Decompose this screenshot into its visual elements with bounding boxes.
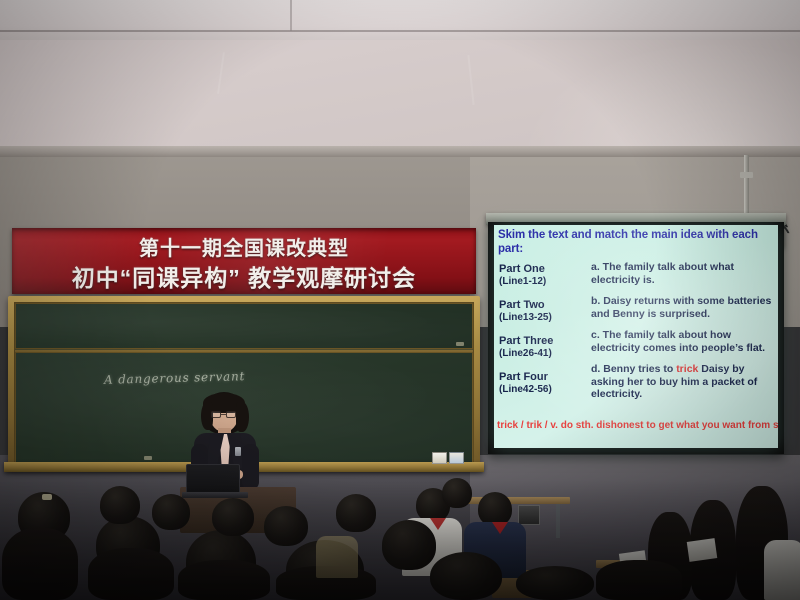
student-uniform [764, 540, 800, 600]
blackboard-knob [456, 342, 464, 346]
student-head [336, 494, 376, 532]
chalk-box [432, 452, 447, 464]
blackboard-knob [144, 456, 152, 460]
desk-leg [556, 504, 560, 538]
slide-option-c: c. The family talk about how electricity… [591, 329, 778, 354]
banner-line-1: 第十一期全国课改典型 [12, 232, 476, 261]
option-b-text: b. Daisy returns with some batteries and… [591, 295, 771, 320]
desk-monitor [518, 505, 540, 525]
projection-screen: Skim the text and match the main idea wi… [488, 222, 784, 454]
hair-clip [42, 494, 52, 500]
student-head [212, 498, 254, 536]
slide-part-item: Part One (Line1-12) [499, 263, 589, 288]
student-head [382, 520, 436, 570]
teacher-arm-right [242, 444, 259, 490]
slide-option-d: d. Benny tries to trick Daisy by asking … [591, 363, 778, 401]
student-head [478, 492, 512, 526]
student-head [100, 486, 140, 524]
glasses-lens-left [211, 411, 221, 418]
teacher-hair-right [236, 402, 249, 432]
part-name: Part One [499, 263, 589, 276]
student-head [516, 566, 594, 600]
student-head [442, 478, 472, 508]
slide-part-item: Part Two (Line13-25) [499, 299, 589, 324]
slide-heading: Skim the text and match the main idea wi… [498, 229, 778, 256]
part-lines: (Line1-12) [499, 276, 589, 288]
ceiling-seam [0, 30, 800, 32]
option-a-text: a. The family talk about what electricit… [591, 261, 734, 286]
student-hair [178, 560, 270, 600]
part-lines: (Line13-25) [499, 312, 589, 324]
ceiling [0, 0, 800, 42]
banner-line-2: 初中“同课异构” 教学观摩研讨会 [12, 259, 476, 293]
part-name: Part Two [499, 299, 589, 312]
projector-pole-collar [740, 172, 753, 178]
student-head [152, 494, 190, 530]
student-hair [88, 548, 174, 600]
glasses-icon [211, 411, 237, 418]
slide-part-item: Part Four (Line42-56) [499, 371, 589, 396]
option-d-text-pre: d. Benny tries to [591, 363, 676, 375]
option-d-highlight: trick [676, 363, 698, 375]
glasses-lens-right [226, 411, 236, 418]
presentation-slide: Skim the text and match the main idea wi… [494, 225, 778, 448]
student-head [264, 506, 308, 546]
slide-parts-column: Part One (Line1-12) Part Two (Line13-25)… [499, 263, 589, 407]
laptop-base [182, 492, 248, 498]
slide-vocabulary-note: trick / trik / v. do sth. dishonest to g… [497, 420, 778, 432]
chalk-box [449, 452, 464, 464]
part-lines: (Line26-41) [499, 348, 589, 360]
student-jacket [316, 536, 358, 578]
podium-laptop [186, 464, 240, 494]
part-name: Part Three [499, 335, 589, 348]
worksheet-paper [687, 538, 718, 562]
projector-mount-pole [744, 155, 749, 217]
slide-option-b: b. Daisy returns with some batteries and… [591, 295, 778, 320]
conference-banner: 第十一期全国课改典型 初中“同课异构” 教学观摩研讨会 [12, 228, 476, 294]
slide-part-item: Part Three (Line26-41) [499, 335, 589, 360]
slide-options-column: a. The family talk about what electricit… [591, 261, 778, 410]
lapel-badge [235, 447, 241, 456]
student-desk [460, 497, 570, 504]
student-hair [596, 560, 682, 600]
classroom-photo: 第十一期全国课改典型 初中“同课异构” 教学观摩研讨会 A dangerous … [0, 0, 800, 600]
student-head [430, 552, 502, 600]
part-name: Part Four [499, 371, 589, 384]
blackboard-texture [16, 304, 472, 348]
student-hair [2, 528, 78, 600]
ceiling-seam-vertical [290, 0, 292, 31]
slide-option-a: a. The family talk about what electricit… [591, 261, 778, 286]
blackboard-upper-panel [15, 303, 473, 349]
part-lines: (Line42-56) [499, 384, 589, 396]
option-c-text: c. The family talk about how electricity… [591, 329, 765, 354]
